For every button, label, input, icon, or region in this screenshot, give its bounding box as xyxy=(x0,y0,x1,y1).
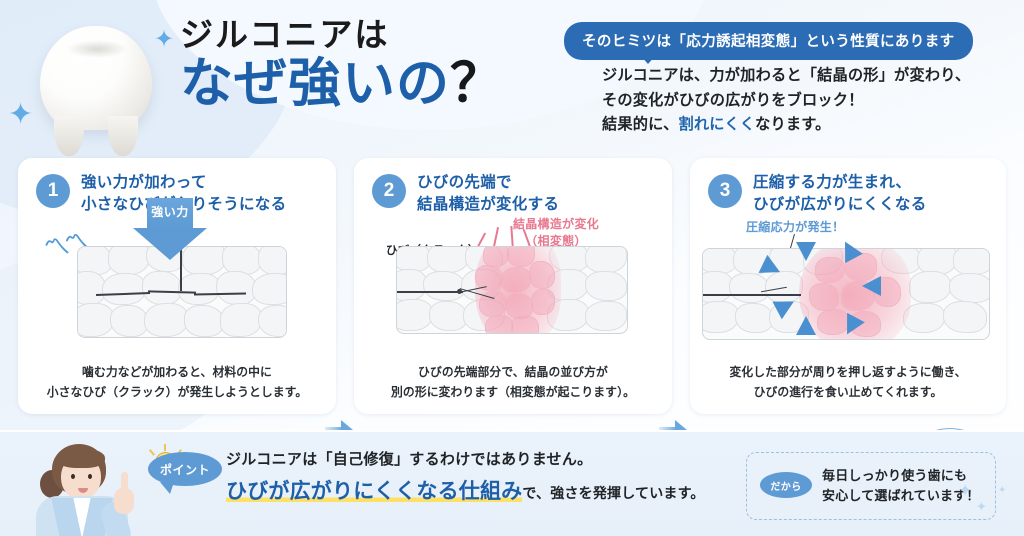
step-1-caption: 噛む力などが加わると、材料の中に 小さなひび（クラック）が発生しようとします。 xyxy=(18,363,336,402)
grain xyxy=(585,246,627,273)
grain xyxy=(427,246,469,273)
step-3-title-line-1: 圧縮する力が生まれ、 xyxy=(753,172,927,194)
grain xyxy=(258,305,287,337)
step-number-badge: 3 xyxy=(708,174,742,208)
footer-line-1: ジルコニアは「自己修復」するわけではありません。 xyxy=(226,448,705,469)
sparkle-icon: ✦ xyxy=(154,28,174,52)
sparkle-icon: ✦ xyxy=(976,500,987,513)
step-2-caption-line-2: 別の形に変わります（相変態が起こります）。 xyxy=(354,383,672,402)
step-2-caption-line-1: ひびの先端部分で、結晶の並び方が xyxy=(354,363,672,382)
footer-line-2-strong: ひびが広がりにくくなる仕組み xyxy=(226,480,522,503)
compression-arrow xyxy=(796,316,816,335)
step-3-header: 3 圧縮する力が生まれ、 ひびが広がりにくくなる xyxy=(708,172,927,216)
grain xyxy=(735,303,773,333)
step-1-title-line-1: 強い力が加わって xyxy=(81,172,286,194)
force-arrow-head xyxy=(133,228,207,260)
crack-main xyxy=(397,291,463,293)
step-2-title-line-1: ひびの先端で xyxy=(417,172,559,194)
dakara-badge: だから xyxy=(760,472,812,498)
pink-grain xyxy=(815,257,845,283)
grain xyxy=(949,273,990,303)
force-arrow: 強い力 xyxy=(133,198,207,264)
grain xyxy=(184,305,224,337)
grain xyxy=(909,271,951,303)
step-number-badge: 1 xyxy=(36,174,70,208)
step-3-caption: 変化した部分が周りを押し返すように働き、 ひびの進行を食い止めてくれます。 xyxy=(690,363,1006,402)
grain xyxy=(142,271,182,305)
grain xyxy=(702,301,739,333)
point-badge-label: ポイント xyxy=(160,461,210,478)
pink-grain xyxy=(531,289,555,315)
crack-tip xyxy=(457,289,462,294)
pointing-finger xyxy=(121,472,128,492)
step-3-illustration: 圧縮応力が発生！ xyxy=(690,220,1006,350)
footer-text: ジルコニアは「自己修復」するわけではありません。 ひびが広がりにくくなる仕組みで… xyxy=(226,448,705,505)
lead-paragraph: ジルコニアは、力が加わると「結晶の形」が変わり、 その変化がひびの広がりをブロッ… xyxy=(602,64,1022,138)
grain xyxy=(258,246,287,275)
grain xyxy=(77,303,114,337)
footer-line-2: ひびが広がりにくくなる仕組みで、強さを発揮しています。 xyxy=(226,475,705,505)
pink-grain xyxy=(501,267,531,293)
step-1-illustration: 〽〽 xyxy=(18,220,336,350)
lead-line-3-post: なります。 xyxy=(755,116,830,133)
eye-right xyxy=(88,474,92,479)
steps-container: 1 強い力が加わって 小さなひびが入りそうになる 〽〽 xyxy=(0,158,1024,416)
step-1-caption-line-2: 小さなひび（クラック）が発生しようとします。 xyxy=(18,383,336,402)
hair-fringe xyxy=(57,448,105,468)
step-number-badge: 2 xyxy=(372,174,406,208)
infographic-root: ✦ ✦ ジルコニアは なぜ強いの？ そのヒミツは「応力誘起相変態」という性質にあ… xyxy=(0,0,1024,536)
sparkle-icon: ✦ xyxy=(998,486,1006,496)
grain xyxy=(953,248,990,275)
grain xyxy=(585,271,627,301)
grain xyxy=(396,299,433,331)
conclusion-line-2: 安心して選ばれています！ xyxy=(822,486,980,506)
tooth-groove xyxy=(66,40,128,58)
compression-arrow xyxy=(796,242,816,261)
step-3-title-line-2: ひびが広がりにくくなる xyxy=(753,194,927,216)
grain xyxy=(178,273,220,305)
title-main-text: なぜ強いの xyxy=(180,54,450,113)
step-1-caption-line-1: 噛む力などが加わると、材料の中に xyxy=(18,363,336,382)
grain xyxy=(102,273,146,305)
compressive-stress-label: 圧縮応力が発生！ xyxy=(746,218,844,235)
secret-pill-banner: そのヒミツは「応力誘起相変態」という性質にあります xyxy=(564,22,973,60)
phase-change-label-line-1: 結晶構造が変化 xyxy=(496,216,616,233)
pink-grain xyxy=(485,315,513,334)
step-2-caption: ひびの先端部分で、結晶の並び方が 別の形に変わります（相変態が起こります）。 xyxy=(354,363,672,402)
grain xyxy=(429,301,467,331)
conclusion-line-1: 毎日しっかり使う歯にも xyxy=(822,466,980,486)
grain xyxy=(423,271,465,301)
point-badge: ポイント xyxy=(148,452,222,486)
sparkle-icon: ✦ xyxy=(8,100,33,130)
grain xyxy=(943,301,987,333)
pink-grain xyxy=(809,283,839,311)
step-3-caption-line-2: ひびの進行を食い止めてくれます。 xyxy=(690,383,1006,402)
grain xyxy=(585,301,627,331)
step-3-title: 圧縮する力が生まれ、 ひびが広がりにくくなる xyxy=(753,172,927,216)
grain xyxy=(252,273,287,305)
conclusion-text: 毎日しっかり使う歯にも 安心して選ばれています！ xyxy=(822,466,980,506)
footer-line-2-tail: で、強さを発揮しています。 xyxy=(522,485,704,501)
lead-line-3-pre: 結果的に、 xyxy=(602,116,678,133)
lead-line-2: その変化がひびの広がりをブロック！ xyxy=(602,89,1022,114)
sparkle-icon: ✦ xyxy=(958,482,972,499)
pink-grain xyxy=(483,246,509,267)
grain xyxy=(144,303,188,337)
step-card-2: 2 ひびの先端で 結晶構造が変化する 結晶構造が変化 （相変態） ひび（クラック… xyxy=(354,158,672,414)
title-line-2: なぜ強いの？ xyxy=(180,55,504,112)
dakara-badge-label: だから xyxy=(770,478,801,493)
step-2-title-line-2: 結晶構造が変化する xyxy=(417,194,559,216)
lead-line-1: ジルコニアは、力が加わると「結晶の形」が変わり、 xyxy=(602,64,1022,89)
material-slab xyxy=(396,246,628,334)
step-2-header: 2 ひびの先端で 結晶構造が変化する xyxy=(372,172,559,216)
bulb-ray xyxy=(149,449,155,456)
tooth-icon xyxy=(40,26,152,130)
bulb-ray xyxy=(164,444,166,451)
grain xyxy=(216,271,256,305)
pill-tail xyxy=(640,55,656,64)
step-2-illustration: 結晶構造が変化 （相変態） ひび（クラック） xyxy=(354,220,672,350)
grain xyxy=(729,273,769,303)
lead-line-3: 結果的に、割れにくくなります。 xyxy=(602,113,1022,138)
title-line-1: ジルコニアは xyxy=(180,18,504,53)
lead-line-3-accent: 割れにくく xyxy=(678,116,755,133)
step-3-caption-line-1: 変化した部分が周りを押し返すように働き、 xyxy=(690,363,1006,382)
presenter-illustration xyxy=(26,440,144,536)
tooth-illustration xyxy=(22,8,172,148)
grain xyxy=(110,305,148,337)
header: ✦ ✦ ジルコニアは なぜ強いの？ そのヒミツは「応力誘起相変態」という性質にあ… xyxy=(0,0,1024,152)
grain xyxy=(220,303,262,337)
compression-arrow xyxy=(862,276,881,296)
page-title: ジルコニアは なぜ強いの？ xyxy=(180,18,504,112)
step-card-3: 3 圧縮する力が生まれ、 ひびが広がりにくくなる 圧縮応力が発生！ xyxy=(690,158,1006,414)
step-2-title: ひびの先端で 結晶構造が変化する xyxy=(417,172,559,216)
phase-change-label: 結晶構造が変化 （相変態） xyxy=(496,216,616,250)
eye-left xyxy=(71,474,75,479)
pink-grain xyxy=(529,261,555,289)
pink-grain xyxy=(511,315,539,334)
force-arrow-label: 強い力 xyxy=(133,203,207,220)
title-question-mark: ？ xyxy=(450,54,504,113)
step-card-1: 1 強い力が加わって 小さなひびが入りそうになる 〽〽 xyxy=(18,158,336,414)
